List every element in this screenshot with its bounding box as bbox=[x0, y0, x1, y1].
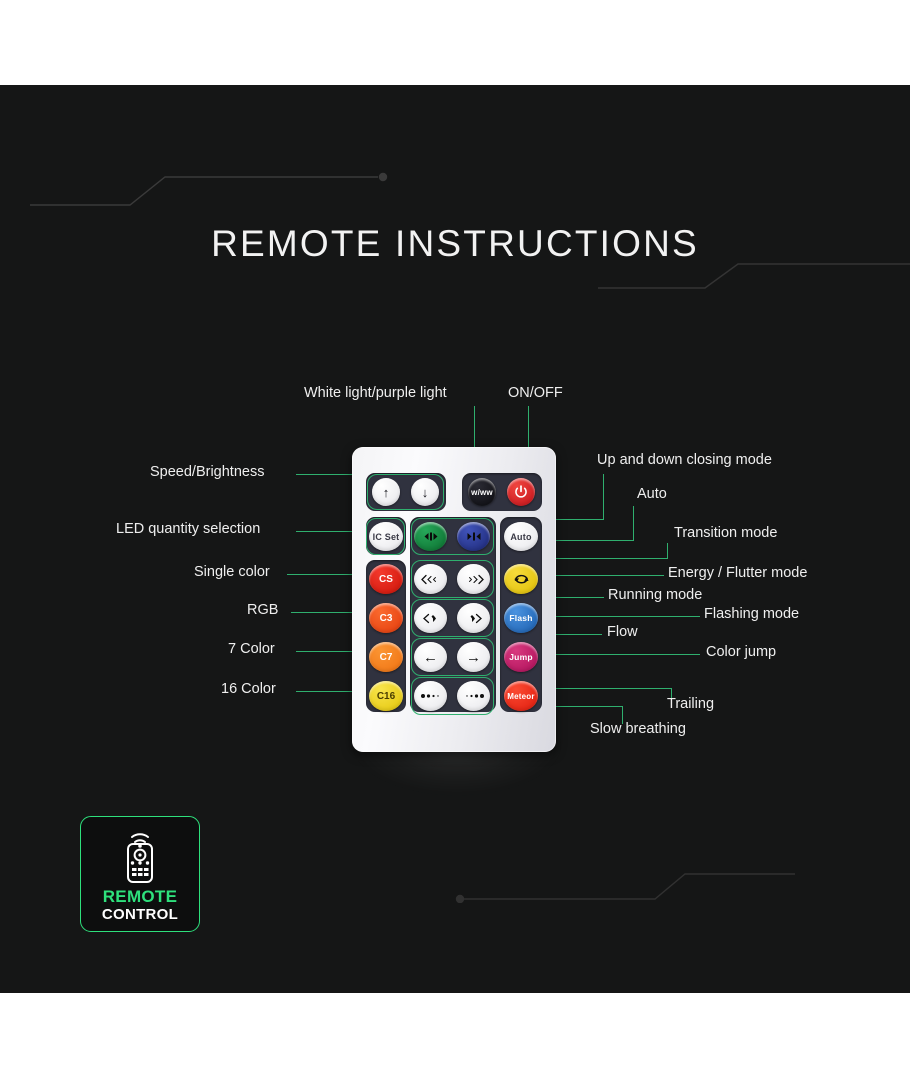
leader-transition-v bbox=[667, 543, 668, 559]
callout-transition-mode: Transition mode bbox=[674, 525, 777, 541]
callout-trailing: Trailing bbox=[667, 696, 714, 712]
highlight-speed-brightness bbox=[367, 474, 444, 510]
callout-flow: Flow bbox=[607, 624, 638, 640]
button-power[interactable] bbox=[507, 478, 535, 506]
callout-color-jump: Color jump bbox=[706, 644, 776, 660]
highlight-up-down-closing bbox=[411, 518, 494, 555]
button-w-ww[interactable]: w/ww bbox=[468, 478, 496, 506]
remote-control-icon bbox=[118, 828, 162, 884]
callout-7-color: 7 Color bbox=[228, 641, 275, 657]
highlight-led-quantity bbox=[366, 518, 405, 555]
button-c3[interactable]: C3 bbox=[369, 603, 403, 633]
button-c7[interactable]: C7 bbox=[369, 642, 403, 672]
highlight-transition-mode bbox=[411, 560, 494, 598]
callout-energy-flutter-mode: Energy / Flutter mode bbox=[668, 565, 807, 581]
callout-on-off: ON/OFF bbox=[508, 385, 563, 401]
callout-single-color: Single color bbox=[194, 564, 270, 580]
highlight-flow bbox=[411, 638, 494, 676]
page-title: REMOTE INSTRUCTIONS bbox=[0, 223, 910, 265]
callout-rgb: RGB bbox=[247, 602, 278, 618]
remote-control-device[interactable]: ↑ ↓ w/ww IC Set Auto CS bbox=[352, 447, 556, 752]
deco-line-top-left bbox=[20, 165, 420, 215]
badge-line-2: CONTROL bbox=[81, 906, 199, 923]
button-jump[interactable]: Jump bbox=[504, 642, 538, 672]
leader-single-color bbox=[287, 574, 361, 575]
page-root: REMOTE INSTRUCTIONS White light/purple l… bbox=[0, 0, 910, 1080]
button-c16[interactable]: C16 bbox=[369, 681, 403, 711]
leader-trailing-h bbox=[540, 688, 672, 689]
callout-running-mode: Running mode bbox=[608, 587, 702, 603]
leader-transition-h bbox=[540, 558, 668, 559]
leader-flashing-mode bbox=[540, 616, 700, 617]
callout-16-color: 16 Color bbox=[221, 681, 276, 697]
button-meteor[interactable]: Meteor bbox=[504, 681, 538, 711]
leader-auto-v bbox=[633, 506, 634, 541]
leader-up-down-closing-v bbox=[603, 474, 604, 520]
highlight-trailing bbox=[411, 677, 494, 715]
loop-icon bbox=[513, 573, 530, 586]
leader-energy-flutter bbox=[540, 575, 664, 576]
deco-line-bottom-right bbox=[440, 853, 910, 903]
callout-flashing-mode: Flashing mode bbox=[704, 606, 799, 622]
highlight-running-mode bbox=[411, 599, 494, 637]
callout-up-down-closing-mode: Up and down closing mode bbox=[597, 452, 772, 468]
badge-line-1: REMOTE bbox=[81, 887, 199, 907]
power-icon bbox=[513, 484, 529, 500]
button-energy-flutter[interactable] bbox=[504, 564, 538, 594]
callout-white-purple-light: White light/purple light bbox=[304, 385, 447, 401]
callout-auto: Auto bbox=[637, 486, 667, 502]
callout-led-quantity: LED quantity selection bbox=[116, 521, 260, 537]
callout-speed-brightness: Speed/Brightness bbox=[150, 464, 264, 480]
button-auto[interactable]: Auto bbox=[504, 522, 538, 551]
callout-slow-breathing: Slow breathing bbox=[590, 721, 686, 737]
remote-control-badge: REMOTE CONTROL bbox=[80, 816, 200, 932]
leader-color-jump bbox=[540, 654, 700, 655]
button-flash[interactable]: Flash bbox=[504, 603, 538, 633]
button-cs[interactable]: CS bbox=[369, 564, 403, 594]
leader-led-quantity bbox=[296, 531, 358, 532]
